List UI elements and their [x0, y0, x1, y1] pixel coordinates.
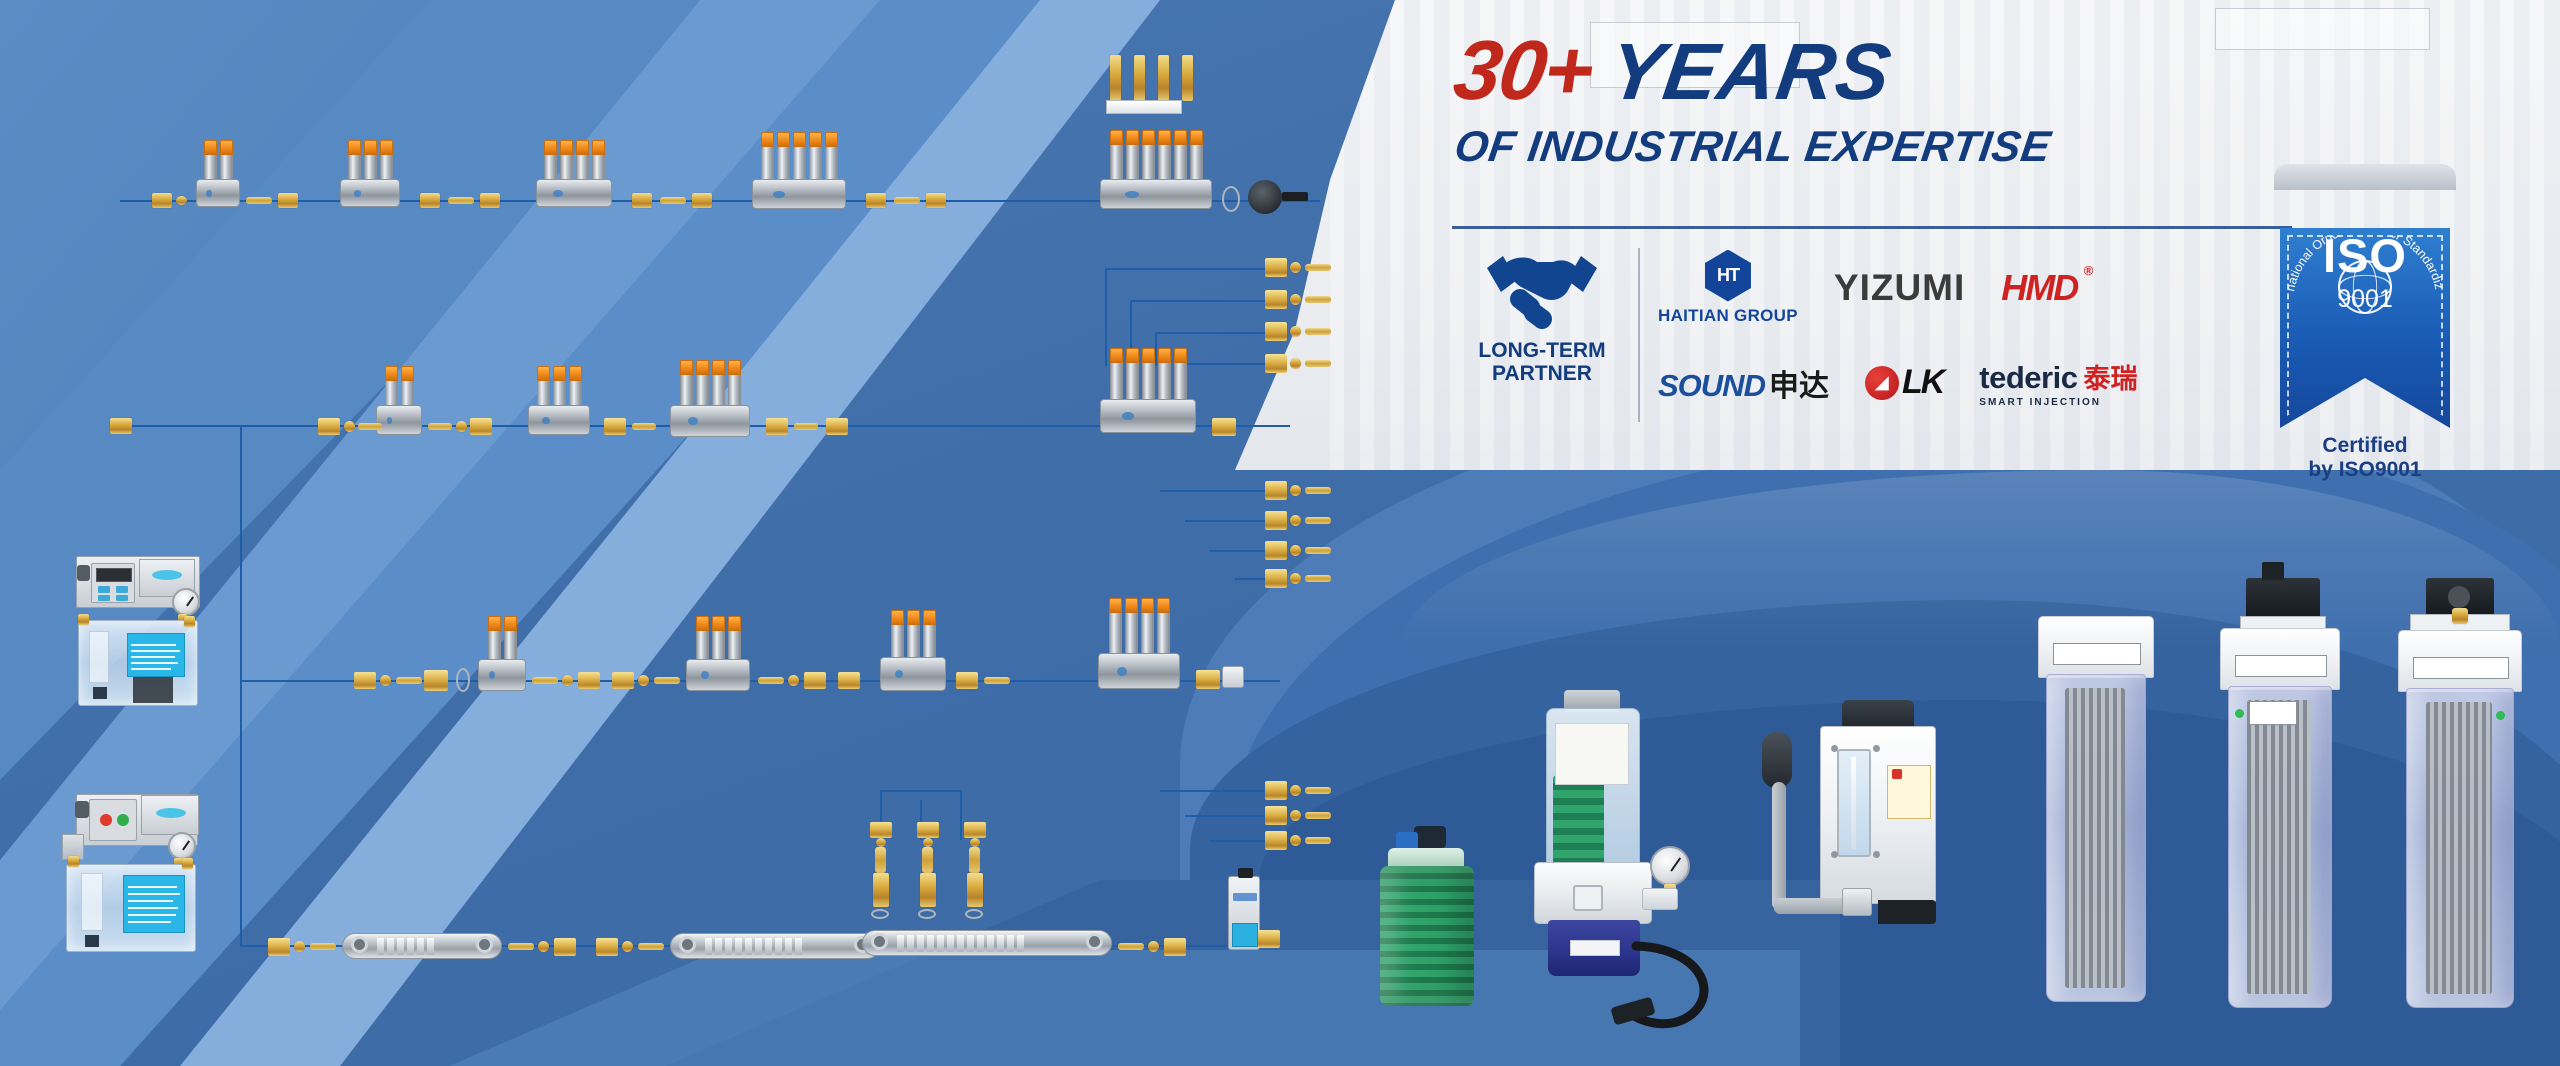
distributor-3-port-r3b[interactable]	[880, 610, 946, 691]
pump-spec-label	[123, 875, 185, 933]
valve-unit	[825, 132, 838, 181]
valve-unit	[544, 140, 557, 181]
pump-button[interactable]	[98, 586, 110, 593]
distributor-4-port-r3[interactable]	[1098, 598, 1180, 689]
branch-fitting	[1265, 290, 1287, 309]
banner-stage: 30+YEARS OF INDUSTRIAL EXPERTISE LONG-TE…	[0, 0, 2560, 1066]
branch-fitting	[1265, 322, 1287, 341]
distributor-2-port-r3[interactable]	[478, 616, 526, 691]
manifold-rib	[765, 938, 772, 955]
manifold-rib	[1017, 935, 1024, 952]
injector-group	[872, 822, 986, 917]
pump-start-button[interactable]	[117, 814, 129, 826]
filter-element	[2247, 700, 2310, 994]
filter-brass-fitting	[2452, 608, 2468, 624]
headline-word: YEARS	[1603, 26, 1897, 118]
valve-unit	[1126, 348, 1139, 401]
pump-cable-gland	[75, 801, 89, 818]
pump-reservoir	[1546, 708, 1640, 868]
riser-pin	[1158, 55, 1169, 101]
branch-fitting	[1265, 481, 1287, 500]
branch-nipple	[1290, 294, 1301, 305]
distributor-5-port-r1[interactable]	[752, 132, 846, 209]
brass-rod	[984, 677, 1010, 684]
brass-fitting	[470, 418, 492, 435]
brass-nipple	[638, 675, 649, 686]
valve-unit	[1190, 130, 1203, 181]
pipe-vertical-trunk	[240, 425, 242, 947]
pump-reservoir-label	[1555, 723, 1629, 785]
sound-name-cn: 申达	[1769, 361, 1829, 405]
valve-unit	[809, 132, 822, 181]
brass-nipple	[380, 675, 391, 686]
iso-badge-top	[2274, 164, 2456, 190]
branch-fitting	[1265, 511, 1287, 530]
tank-port	[68, 856, 79, 867]
distributor-4-port-r1[interactable]	[536, 140, 612, 207]
manifold-rib	[755, 938, 762, 955]
pump-screw	[1873, 851, 1880, 858]
brass-nipple	[562, 675, 573, 686]
riser-pin	[1110, 55, 1121, 101]
branch-line-m4	[1235, 578, 1265, 580]
brass-fitting	[420, 193, 440, 208]
brass-nipple	[176, 196, 187, 205]
grease-bellows	[1553, 775, 1605, 867]
valve-unit	[1142, 348, 1155, 401]
brass-nipple	[456, 421, 467, 432]
pressure-gauge	[172, 588, 200, 616]
hmd-name: HMD	[2001, 267, 2077, 308]
haitian-mark: HT	[1717, 265, 1739, 286]
valve-unit	[592, 140, 605, 181]
haitian-hexagon-icon: HT	[1705, 250, 1751, 302]
distributor-3-port-r3[interactable]	[686, 616, 750, 691]
manifold-rib	[907, 935, 914, 952]
tank-sight-strip	[89, 631, 109, 683]
iso-ribbon: International Organization for Standardi…	[2280, 228, 2450, 428]
brass-fitting	[804, 672, 826, 689]
branch-line-3	[1155, 332, 1265, 334]
long-term-partner-badge: LONG-TERM PARTNER	[1452, 240, 1632, 430]
valve-unit	[923, 610, 936, 659]
manifold-rib	[725, 938, 732, 955]
brass-rod	[532, 677, 558, 684]
branch-line-l1	[1160, 790, 1265, 792]
brass-nipple	[788, 675, 799, 686]
logo-divider	[1638, 248, 1640, 422]
branch-nipple	[1290, 810, 1301, 821]
electric-lubrication-pump-digital[interactable]	[72, 556, 202, 708]
tederic-tagline: SMART INJECTION	[1979, 397, 2137, 408]
valve-unit	[696, 616, 709, 661]
valve-unit	[1126, 130, 1139, 181]
brass-rod	[358, 423, 382, 430]
manifold-rib	[745, 938, 752, 955]
filter-element	[2426, 702, 2492, 995]
manual-lubrication-pump	[1746, 700, 1936, 990]
branch-fitting	[1265, 781, 1287, 800]
pump-brand-sticker	[156, 808, 186, 818]
brass-nipple	[1148, 941, 1159, 952]
brass-fitting	[110, 418, 132, 434]
valve-unit	[380, 140, 393, 181]
brass-fitting	[1196, 670, 1220, 689]
brass-rod	[508, 943, 534, 950]
manifold-rib	[785, 938, 792, 955]
pump-control-panel[interactable]	[91, 563, 135, 603]
manifold-rib	[775, 938, 782, 955]
valve-unit	[777, 132, 790, 181]
metering-valve-cap	[1238, 868, 1253, 878]
brass-fitting	[480, 193, 500, 208]
riser-pin	[1134, 55, 1145, 101]
valve-unit	[1158, 130, 1171, 181]
water-filter-2	[2212, 578, 2348, 1008]
manifold-rib	[705, 938, 712, 955]
volumetric-manifold-13[interactable]	[862, 930, 1112, 956]
valve-unit	[1174, 348, 1187, 401]
pump-cable-gland	[77, 565, 90, 581]
iso-certification-badge: International Organization for Standardi…	[2280, 178, 2450, 426]
brass-rod	[758, 677, 784, 684]
brass-fitting	[766, 418, 788, 435]
brass-nipple	[344, 421, 355, 432]
injector-header	[880, 790, 962, 792]
valve-unit	[220, 140, 233, 181]
tank-drain	[93, 687, 107, 699]
valve-unit	[1157, 598, 1170, 655]
end-cap-fitting	[1248, 180, 1282, 214]
distributor-3-port-r2[interactable]	[528, 366, 590, 435]
manifold-rib	[897, 935, 904, 952]
manifold-rib	[937, 935, 944, 952]
distributor-5-port-r2[interactable]	[1100, 348, 1196, 433]
valve-unit	[560, 140, 573, 181]
manifold-rib	[715, 938, 722, 955]
valve-unit	[1110, 348, 1123, 401]
water-filter-3	[2390, 578, 2530, 1008]
brass-nipple	[538, 941, 549, 952]
brass-fitting	[838, 672, 860, 689]
pressure-gauge	[1650, 846, 1690, 886]
brass-rod	[638, 943, 664, 950]
iso-caption-line1: Certified	[2322, 434, 2407, 457]
manifold-mount-hole	[1086, 933, 1103, 950]
brass-rod	[448, 197, 474, 204]
injector-unit[interactable]	[966, 822, 986, 917]
lk-circle-icon: ◢	[1865, 366, 1899, 400]
pump-warning-label	[1887, 765, 1931, 819]
electric-lubrication-pump-buttons[interactable]	[62, 794, 202, 952]
brass-fitting	[692, 193, 712, 208]
filter-bowl-label	[2249, 701, 2297, 725]
branch-rod	[1305, 812, 1331, 819]
branch-rod	[1305, 517, 1331, 524]
valve-unit	[569, 366, 582, 407]
metering-valve[interactable]	[1228, 876, 1260, 950]
partner-logo-strip: LONG-TERM PARTNER HT HAITIAN GROUP YIZUM…	[1452, 240, 2312, 430]
manifold-rib	[917, 935, 924, 952]
pump-spec-label	[127, 633, 185, 677]
valve-unit	[712, 616, 725, 661]
pump-adjust-dial[interactable]	[1573, 885, 1603, 911]
lk-name: LK	[1902, 363, 1943, 402]
distributor-6-port-r1[interactable]	[1100, 130, 1212, 209]
brass-fitting	[1212, 418, 1236, 436]
branch-nipple	[1290, 515, 1301, 526]
valve-unit	[537, 366, 550, 407]
brass-rod	[660, 197, 686, 204]
pressure-gauge	[168, 832, 196, 860]
logo-row-1: HT HAITIAN GROUP YIZUMI HMD®	[1658, 244, 2312, 332]
pump-pivot-block	[1842, 888, 1872, 916]
brass-fitting	[268, 938, 290, 956]
filter-element	[2065, 688, 2126, 988]
metering-valve-band	[1233, 893, 1257, 901]
electric-grease-pump	[1508, 690, 1698, 1020]
manifold-rib	[377, 938, 384, 955]
solenoid-terminal	[2262, 562, 2284, 580]
filter-indicator	[2235, 709, 2244, 718]
branch-nipple	[1290, 545, 1301, 556]
pump-screw	[1831, 851, 1838, 858]
tank-drain	[85, 935, 99, 947]
manifold-mount-hole	[679, 936, 696, 953]
pump-outlet	[1878, 900, 1936, 924]
brass-rod	[1118, 943, 1144, 950]
manifold-rib	[977, 935, 984, 952]
pump-button[interactable]	[116, 586, 128, 593]
manifold-rib	[407, 938, 414, 955]
riser-pin-group	[1110, 55, 1193, 101]
pump-lever-grip[interactable]	[1762, 732, 1792, 788]
manifold-mount-hole	[476, 936, 493, 953]
filter-solenoid[interactable]	[2246, 578, 2320, 620]
brass-fitting	[278, 193, 298, 208]
metering-valve-label	[1232, 923, 1258, 947]
logo-yizumi: YIZUMI	[1834, 267, 1965, 309]
branch-rod	[1305, 487, 1331, 494]
branch-fitting	[1265, 258, 1287, 277]
branch-nipple	[1290, 573, 1301, 584]
valve-unit	[891, 610, 904, 659]
brass-rod	[632, 423, 656, 430]
valve-unit	[1141, 598, 1154, 655]
filter-label	[2235, 655, 2327, 677]
partner-label-line1: LONG-TERM	[1478, 339, 1605, 362]
brass-fitting	[826, 418, 848, 435]
manifold-rib	[387, 938, 394, 955]
manifold-mount-hole	[351, 936, 368, 953]
branch-fitting	[1265, 831, 1287, 850]
sound-name: SOUND	[1658, 368, 1765, 404]
valve-unit	[385, 366, 398, 407]
manifold-rib	[987, 935, 994, 952]
pump-control-panel[interactable]	[89, 799, 137, 841]
branch-fitting	[1265, 806, 1287, 825]
branch-line-m3	[1210, 550, 1265, 552]
logo-hmd: HMD®	[2001, 267, 2077, 309]
pump-housing	[1534, 862, 1652, 924]
brass-fitting	[1258, 930, 1280, 948]
headline-number: 30+	[1448, 22, 1598, 119]
logo-grid: HT HAITIAN GROUP YIZUMI HMD® SOUND 申达 ◢ …	[1658, 240, 2312, 430]
valve-unit	[364, 140, 377, 181]
brass-elbow	[424, 670, 448, 691]
volumetric-manifold-6[interactable]	[342, 933, 502, 959]
brass-nipple	[294, 941, 305, 952]
brass-rod	[310, 943, 336, 950]
logo-sound: SOUND 申达	[1658, 361, 1829, 405]
iso-caption-line2: by ISO9001	[2308, 458, 2421, 481]
branch-fitting	[1265, 354, 1287, 373]
brass-rod	[246, 197, 272, 204]
pump-brand-sticker	[152, 570, 182, 580]
branch-nipple	[1290, 358, 1301, 369]
pump-display	[96, 568, 132, 582]
valve-unit	[680, 360, 693, 407]
oil-sight-glass	[1837, 749, 1871, 857]
brass-fitting	[596, 938, 618, 956]
distributor-3-port-r1[interactable]	[340, 140, 400, 207]
valve-unit	[907, 610, 920, 659]
tank-port	[182, 858, 193, 869]
brass-fitting	[866, 193, 886, 208]
branch-fitting	[1265, 541, 1287, 560]
logo-tederic: tederic 泰瑞 SMART INJECTION	[1979, 357, 2137, 408]
brass-rod	[428, 423, 452, 430]
tank-port	[78, 614, 89, 625]
brass-fitting	[604, 418, 626, 435]
branch-nipple	[1290, 262, 1301, 273]
brass-fitting	[354, 672, 376, 689]
brass-nipple	[622, 941, 633, 952]
branch-nipple	[1290, 485, 1301, 496]
partner-label-line2: PARTNER	[1492, 362, 1592, 385]
headline-divider	[1452, 226, 2292, 229]
brass-fitting	[1164, 938, 1186, 956]
manifold-rib	[957, 935, 964, 952]
branch-line-l3	[1210, 840, 1265, 842]
brass-rod	[894, 197, 920, 204]
branch-rod	[1305, 360, 1331, 367]
manifold-rib	[967, 935, 974, 952]
valve-unit	[1110, 130, 1123, 181]
brass-rod	[794, 423, 818, 430]
partner-badge-label: LONG-TERM PARTNER	[1478, 340, 1605, 385]
pump-button[interactable]	[116, 595, 128, 601]
branch-line-m2	[1185, 520, 1265, 522]
pump-lever-arm[interactable]	[1772, 782, 1786, 910]
branch-fitting	[1265, 569, 1287, 588]
end-cap-stem	[1282, 192, 1308, 201]
filter-label	[2053, 643, 2141, 665]
manifold-rib	[427, 938, 434, 955]
iso-caption: Certified by ISO9001	[2280, 434, 2450, 482]
cartridge-body	[1380, 866, 1474, 1006]
brass-fitting	[554, 938, 576, 956]
valve-unit	[553, 366, 566, 407]
brass-fitting	[318, 418, 340, 435]
valve-unit	[1109, 598, 1122, 655]
branch-rod	[1305, 575, 1331, 582]
pump-button[interactable]	[98, 595, 110, 601]
brass-rod	[396, 677, 422, 684]
pump-outlet-block	[1642, 888, 1678, 910]
pump-screw	[1831, 745, 1838, 752]
valve-unit	[1158, 348, 1171, 401]
manifold-rib	[997, 935, 1004, 952]
manifold-mount-hole	[871, 933, 888, 950]
tederic-name: tederic	[1979, 360, 2077, 396]
branch-line-1	[1105, 268, 1265, 270]
branch-rod	[1305, 547, 1331, 554]
valve-unit	[696, 360, 709, 407]
manifold-rib	[947, 935, 954, 952]
globe-icon	[2338, 260, 2392, 314]
headline-block: 30+YEARS OF INDUSTRIAL EXPERTISE	[1455, 22, 2295, 172]
brass-fitting	[578, 672, 600, 689]
brass-fitting	[926, 193, 946, 208]
manifold-rib	[1007, 935, 1014, 952]
flow-sensor	[1222, 666, 1244, 688]
distributor-2-port-r1[interactable]	[196, 140, 240, 207]
branch-rod	[1305, 328, 1331, 335]
distributor-2-port-r2[interactable]	[376, 366, 422, 435]
injector-unit[interactable]	[872, 822, 892, 917]
branch-rod	[1305, 787, 1331, 794]
distributor-4-port-r2[interactable]	[670, 360, 750, 437]
filter-label	[2413, 657, 2509, 679]
tank-port	[184, 616, 195, 627]
valve-unit	[576, 140, 589, 181]
injector-unit[interactable]	[919, 822, 939, 917]
valve-unit	[761, 132, 774, 181]
brass-fitting	[152, 193, 172, 208]
brass-fitting	[632, 193, 652, 208]
riser-plate	[1106, 100, 1182, 114]
o-ring	[1222, 186, 1240, 212]
branch-rod	[1305, 837, 1331, 844]
logo-lk: ◢ LK	[1865, 363, 1943, 402]
pump-body	[1820, 726, 1936, 904]
cartridge-shoulder	[1388, 848, 1464, 868]
valve-unit	[504, 616, 517, 661]
pump-screw	[1873, 745, 1880, 752]
valve-unit	[728, 360, 741, 407]
warning-icon	[1892, 769, 1902, 779]
cartridge-cap	[1414, 826, 1446, 848]
brass-fitting	[612, 672, 634, 689]
pump-motor-housing	[141, 795, 199, 835]
valve-unit	[1174, 130, 1187, 181]
manifold-rib	[397, 938, 404, 955]
logo-haitian: HT HAITIAN GROUP	[1658, 250, 1798, 326]
sight-tube	[1851, 757, 1856, 849]
logo-row-2: SOUND 申达 ◢ LK tederic 泰瑞 SMART INJECTION	[1658, 339, 2312, 427]
volumetric-manifold-10[interactable]	[670, 933, 880, 959]
branch-rod	[1305, 296, 1331, 303]
pump-base-label	[1570, 940, 1620, 956]
valve-unit	[793, 132, 806, 181]
pump-motor-base	[1548, 920, 1640, 976]
manifold-rib	[417, 938, 424, 955]
water-filter-1	[2030, 616, 2160, 1008]
pump-stop-button[interactable]	[100, 814, 112, 826]
hmd-registered: ®	[2084, 263, 2092, 278]
brass-rod	[654, 677, 680, 684]
